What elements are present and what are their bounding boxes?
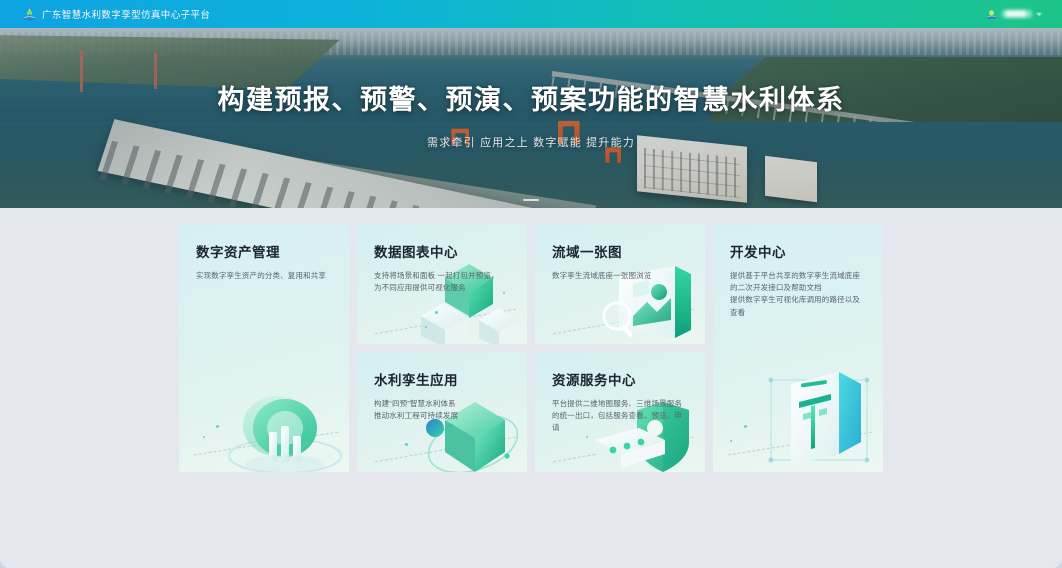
ground-line [553,437,694,463]
grid-column-4: 开发中心 提供基于平台共享的数字孪生流域底座 的二次开发接口及帮助文档 提供数字… [713,224,883,472]
card-basin-one-map[interactable]: 流域一张图 数字孪生流域底座一张图浏览 [535,224,705,344]
card-title: 开发中心 [730,245,866,261]
app-page: 广东智慧水利数字孪型仿真中心子平台 ████ [0,0,1062,568]
spark-dot [405,443,408,446]
card-data-chart-center[interactable]: 数据图表中心 支持将场景和面板 一起打包并预览， 为不同应用提供可视化服务 [357,224,527,344]
spark-dot [203,436,205,438]
isometric-disc-icon [215,370,349,472]
grid-column-1: 数字资产管理 实现数字孪生资产的分类、复用和共享 [179,224,349,472]
grid-column-2: 数据图表中心 支持将场景和面板 一起打包并预览， 为不同应用提供可视化服务 [357,224,527,472]
spark-dot [730,440,732,442]
card-description: 支持将场景和面板 一起打包并预览， 为不同应用提供可视化服务 [374,270,510,294]
spark-dot [216,425,219,428]
user-avatar-icon [985,8,998,21]
isometric-cubes-icon [415,256,525,344]
card-title: 水利孪生应用 [374,373,510,389]
ground-line [193,432,338,456]
username-label: ████ [1002,10,1032,18]
card-title: 流域一张图 [552,245,688,261]
isometric-code-frame-icon [755,356,883,472]
emblem-logo-icon [22,7,37,22]
spark-dot [586,436,588,438]
module-card-grid: 数字资产管理 实现数字孪生资产的分类、复用和共享 [179,224,883,472]
top-header-bar: 广东智慧水利数字孪型仿真中心子平台 ████ [0,0,1062,28]
hero-subtitle: 需求牵引 应用之上 数字赋能 提升能力 [427,134,635,150]
card-title: 资源服务中心 [552,373,688,389]
ground-line [375,437,516,463]
platform-title: 广东智慧水利数字孪型仿真中心子平台 [42,7,210,21]
card-digital-asset-management[interactable]: 数字资产管理 实现数字孪生资产的分类、复用和共享 [179,224,349,472]
card-development-center[interactable]: 开发中心 提供基于平台共享的数字孪生流域底座 的二次开发接口及帮助文档 提供数字… [713,224,883,472]
card-description: 构建“四预”智慧水利体系 推动水利工程可持续发展 [374,398,510,422]
card-water-twin-application[interactable]: 水利孪生应用 构建“四预”智慧水利体系 推动水利工程可持续发展 [357,352,527,472]
hero-title: 构建预报、预警、预演、预案功能的智慧水利体系 [218,87,845,114]
card-description: 提供基于平台共享的数字孪生流域底座 的二次开发接口及帮助文档 提供数字孪生可视化… [730,270,866,319]
card-title: 数字资产管理 [196,245,332,261]
spark-dot [744,425,747,428]
ground-line [727,432,872,456]
ground-line [375,309,516,335]
card-resource-service-center[interactable]: 资源服务中心 平台提供二维地图服务、三维场景服务 的统一出口，包括服务查看、预览… [535,352,705,472]
carousel-indicator[interactable] [523,199,539,201]
card-description: 实现数字孪生资产的分类、复用和共享 [196,270,332,282]
chevron-down-icon[interactable] [1036,13,1042,16]
isometric-orbit-cube-icon [409,382,525,472]
user-area[interactable]: ████ [985,8,1062,21]
spark-dot [640,322,642,324]
hero-text-block: 构建预报、预警、预演、预案功能的智慧水利体系 需求牵引 应用之上 数字赋能 提升… [0,28,1062,208]
card-description: 数字孪生流域底座一张图浏览 [552,270,688,282]
grid-column-3: 流域一张图 数字孪生流域底座一张图浏览 [535,224,705,472]
ground-line [553,309,694,335]
card-description: 平台提供二维地图服务、三维场景服务 的统一出口，包括服务查看、预览、申 请 [552,398,688,434]
hero-banner: 构建预报、预警、预演、预案功能的智慧水利体系 需求牵引 应用之上 数字赋能 提升… [0,28,1062,208]
card-title: 数据图表中心 [374,245,510,261]
spark-dot [425,326,427,328]
spark-dot [435,311,438,314]
brand-area[interactable]: 广东智慧水利数字孪型仿真中心子平台 [0,7,210,22]
